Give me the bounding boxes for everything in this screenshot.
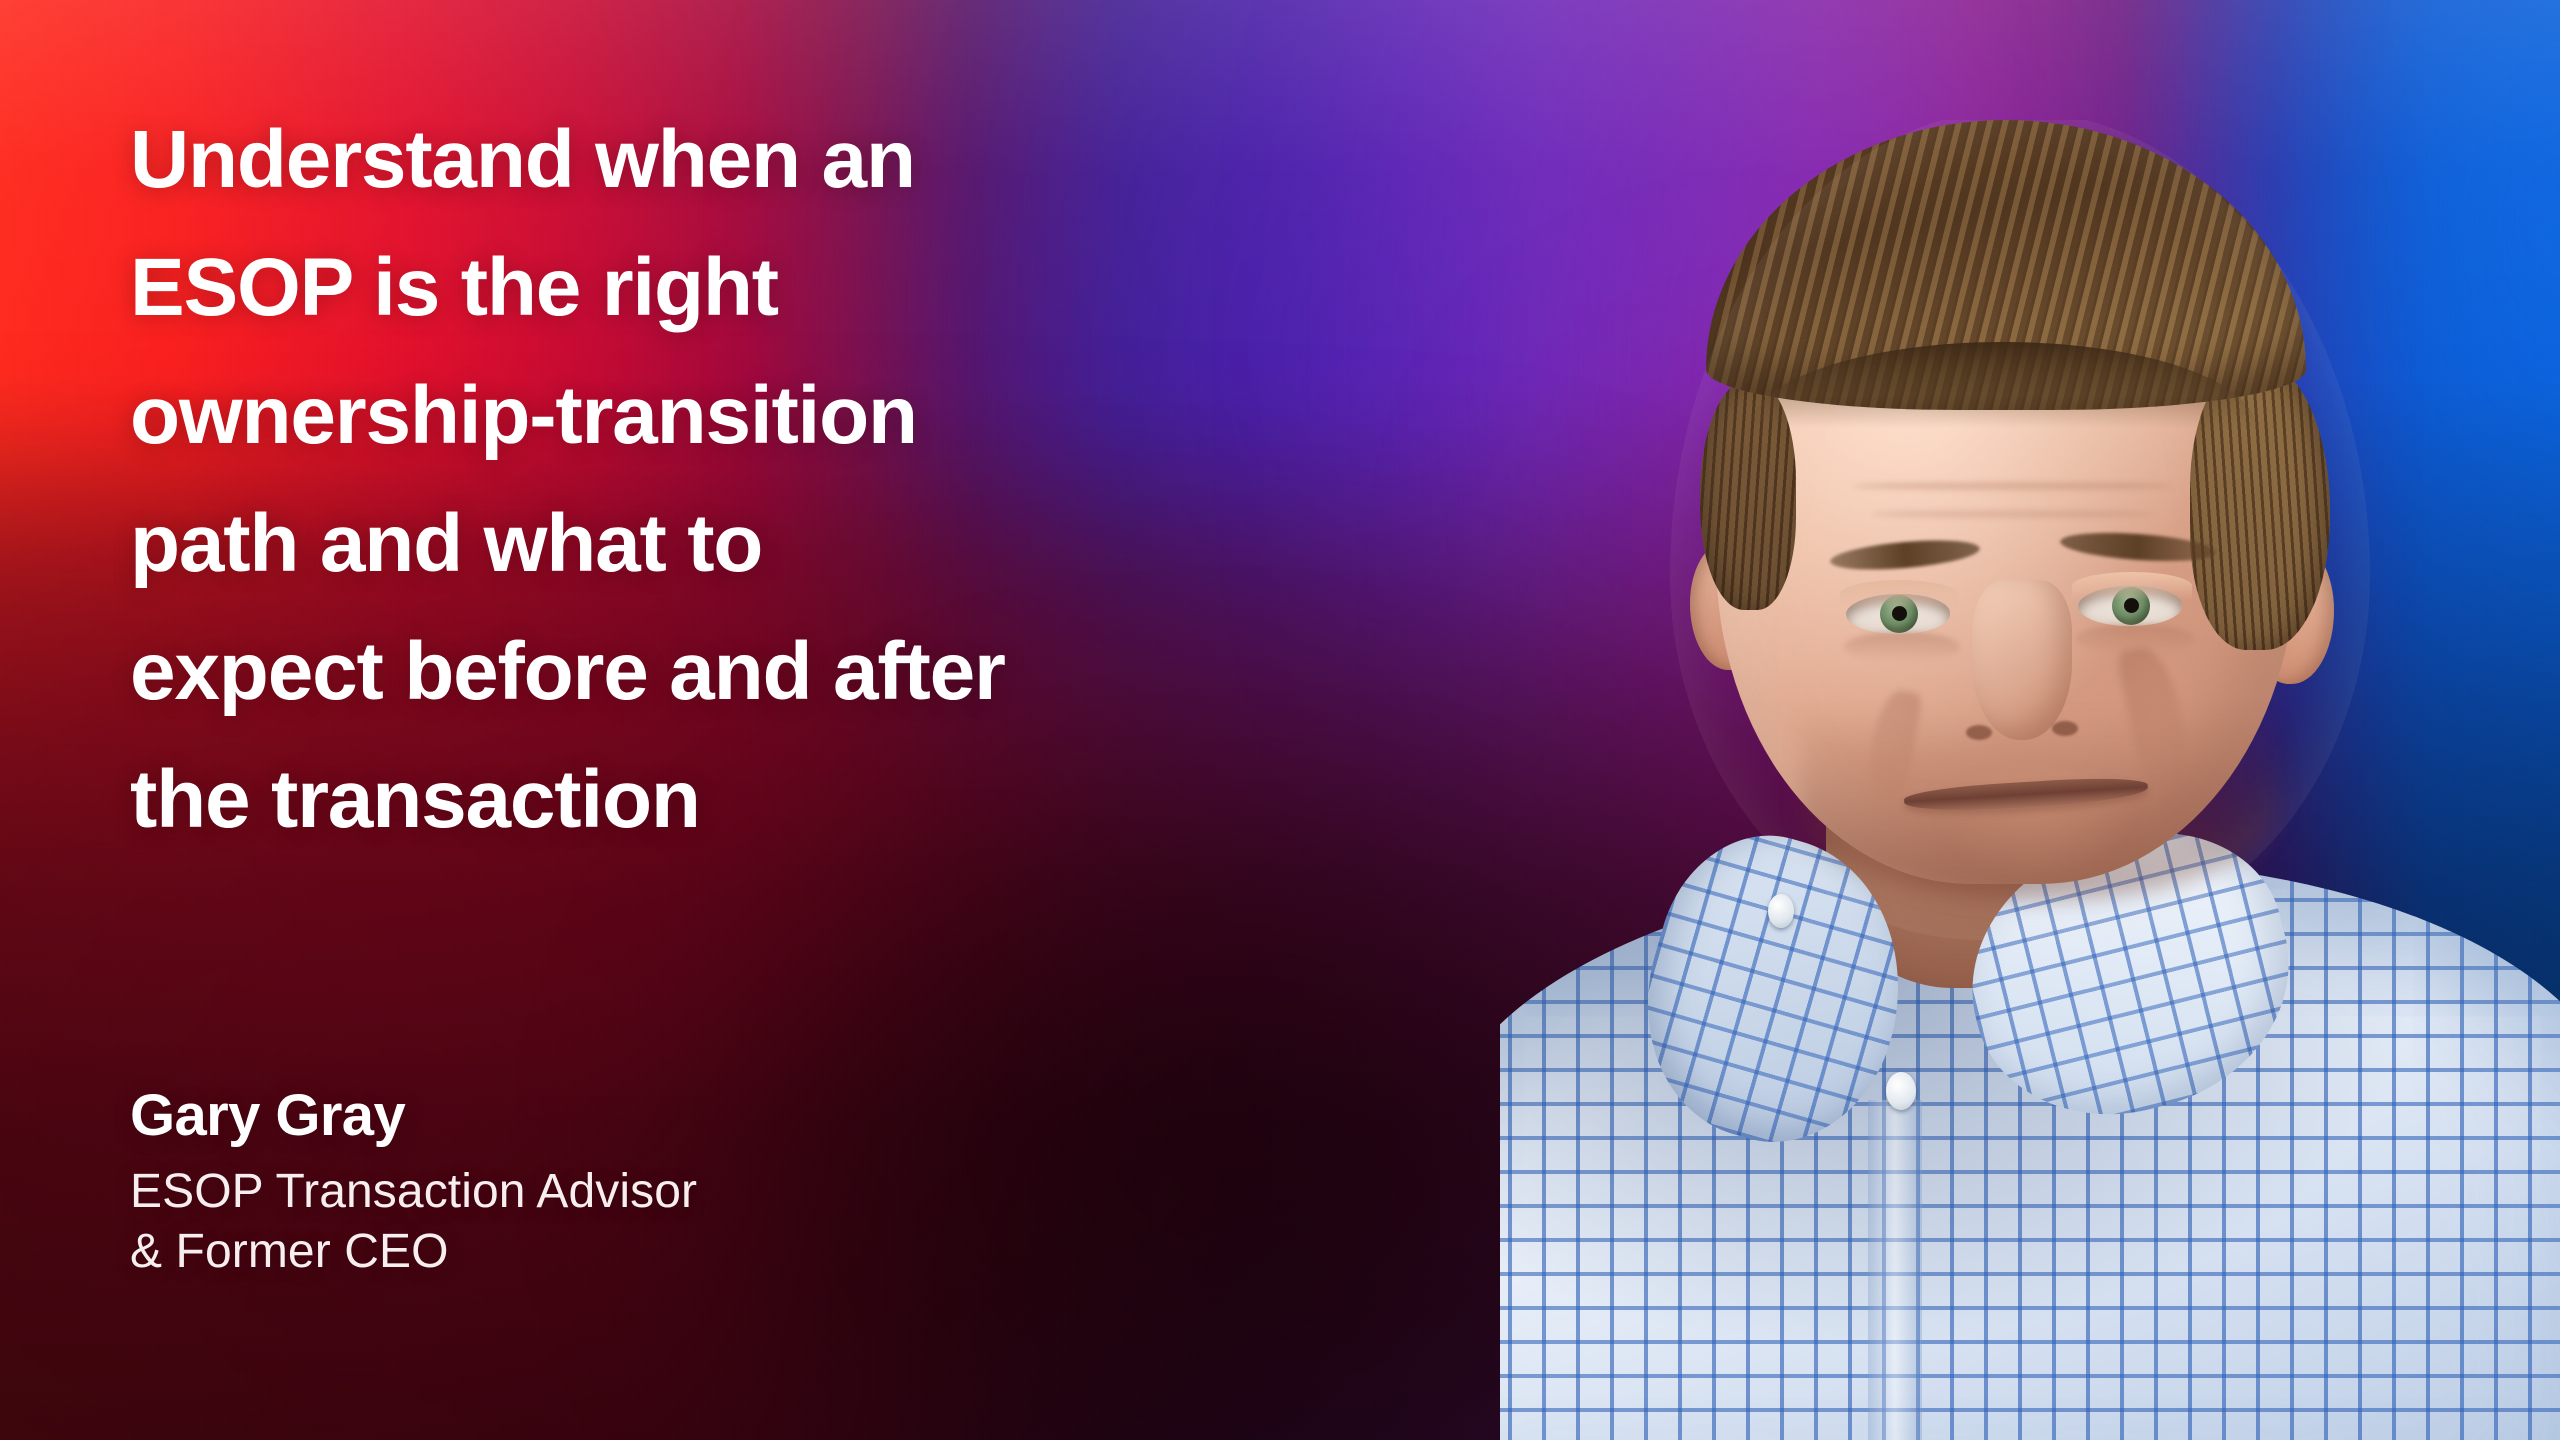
headline-line-6: the transaction [130,736,1450,864]
speaker-role-line-2: & Former CEO [130,1222,1230,1282]
headline-line-2: ESOP is the right [130,224,1450,352]
collar-button [1768,894,1794,928]
headline-line-3: ownership-transition [130,352,1450,480]
speaker-portrait-image [1500,120,2560,1440]
speaker-role-line-1: ESOP Transaction Advisor [130,1162,1230,1222]
speaker-role: ESOP Transaction Advisor & Former CEO [130,1162,1230,1282]
text-column: Understand when an ESOP is the right own… [130,0,1510,1440]
speaker-credit: Gary Gray ESOP Transaction Advisor & For… [130,1082,1230,1282]
shirt-placket [1868,1100,1922,1440]
headline-line-5: expect before and after [130,608,1450,736]
headline-line-4: path and what to [130,480,1450,608]
page-title: Understand when an ESOP is the right own… [130,96,1450,864]
headline-line-1: Understand when an [130,96,1450,224]
chest-button [1886,1072,1916,1110]
slide-canvas: Understand when an ESOP is the right own… [0,0,2560,1440]
speaker-name: Gary Gray [130,1082,1230,1150]
